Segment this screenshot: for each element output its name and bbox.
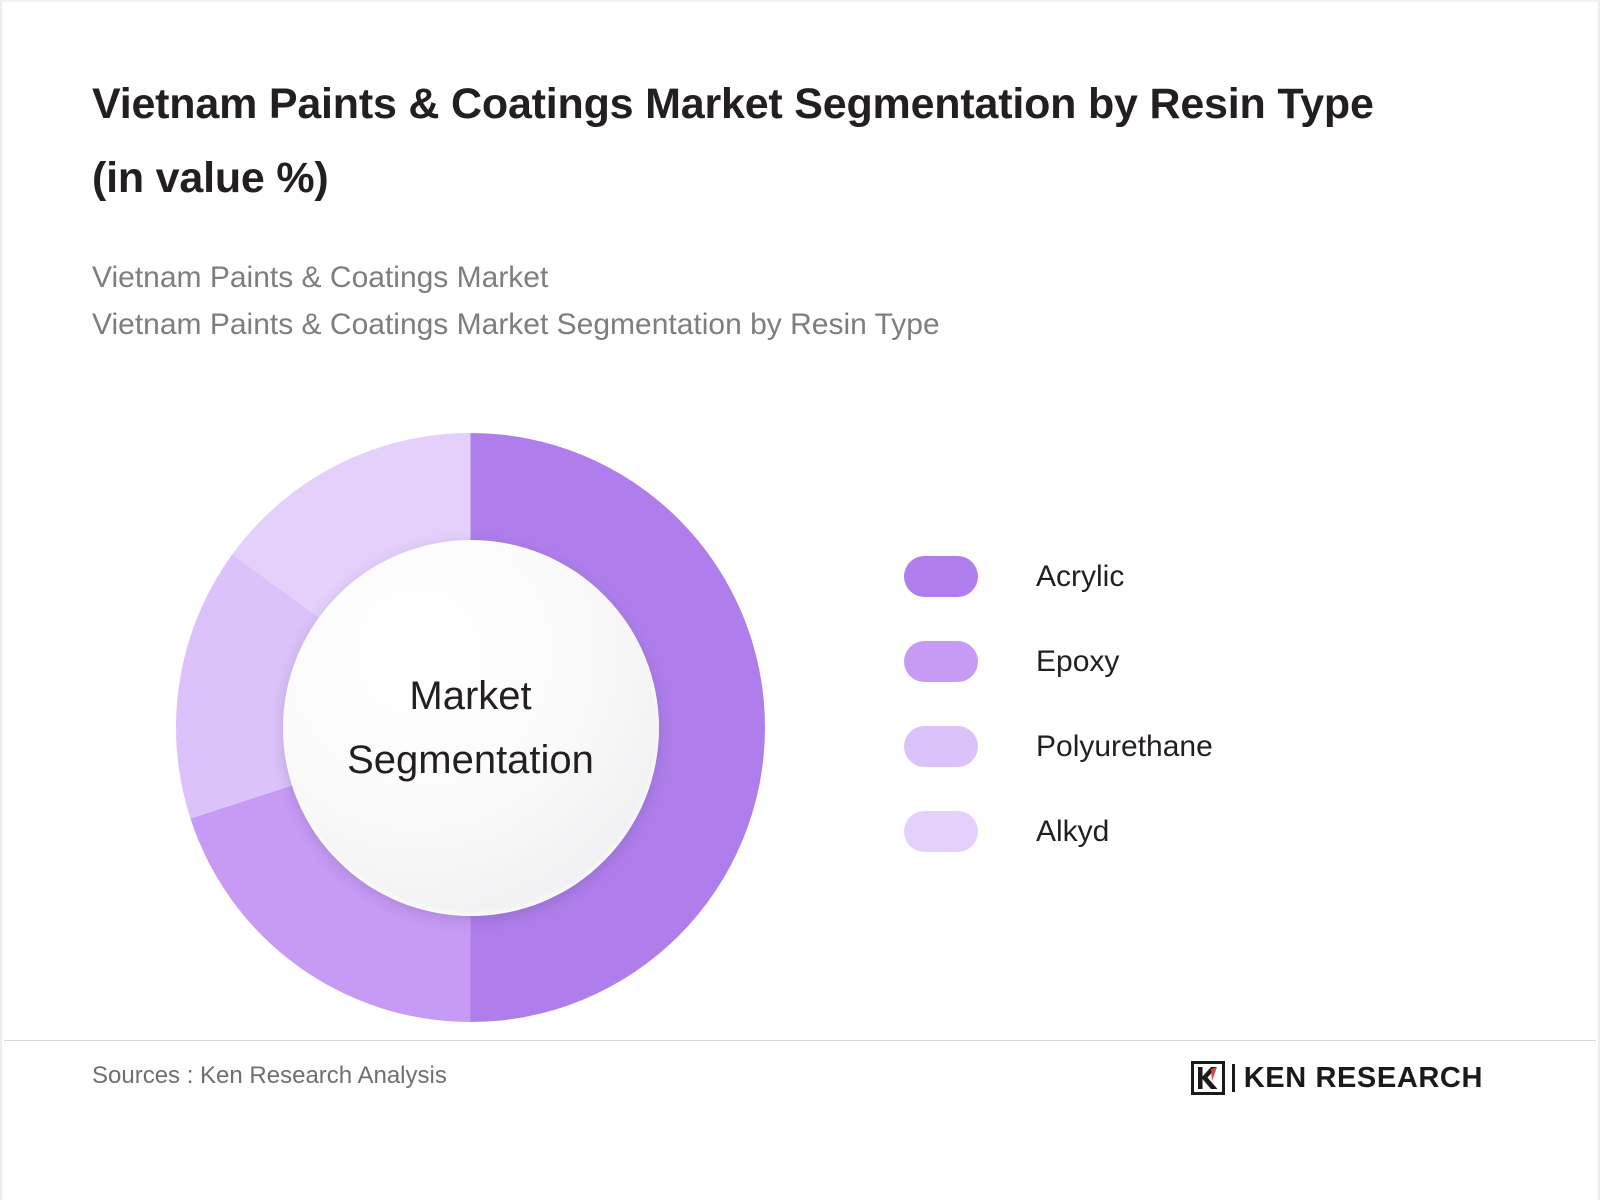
- legend-swatch-epoxy: [904, 641, 978, 682]
- footer-divider: [4, 1040, 1596, 1041]
- legend-label: Epoxy: [1036, 645, 1119, 679]
- ken-k-mark-svg: [1191, 1061, 1225, 1095]
- donut-center-disc: Market Segmentation: [283, 540, 659, 916]
- legend-item-polyurethane[interactable]: Polyurethane: [904, 704, 1424, 789]
- chart-area: Market Segmentation AcrylicEpoxyPolyuret…: [2, 362, 1600, 1032]
- subtitle-block: Vietnam Paints & Coatings Market Vietnam…: [92, 255, 1392, 348]
- subtitle-line-2: Vietnam Paints & Coatings Market Segment…: [92, 302, 1392, 349]
- ken-research-logo: KEN RESEARCH: [1191, 1058, 1483, 1098]
- legend-item-acrylic[interactable]: Acrylic: [904, 534, 1424, 619]
- legend-item-epoxy[interactable]: Epoxy: [904, 619, 1424, 704]
- legend-item-alkyd[interactable]: Alkyd: [904, 789, 1424, 874]
- legend-swatch-polyurethane: [904, 726, 978, 767]
- legend-label: Polyurethane: [1036, 730, 1213, 764]
- legend-label: Acrylic: [1036, 560, 1124, 594]
- subtitle-line-1: Vietnam Paints & Coatings Market: [92, 255, 1392, 302]
- ken-k-mark-icon: [1191, 1061, 1225, 1095]
- slide-canvas: Vietnam Paints & Coatings Market Segment…: [0, 0, 1600, 1200]
- logo-divider: [1232, 1064, 1235, 1092]
- chart-legend: AcrylicEpoxyPolyurethaneAlkyd: [904, 534, 1424, 874]
- logo-wordmark: KEN RESEARCH: [1244, 1062, 1483, 1095]
- legend-label: Alkyd: [1036, 815, 1109, 849]
- sources-text: Sources : Ken Research Analysis: [92, 1062, 447, 1090]
- legend-swatch-acrylic: [904, 556, 978, 597]
- donut-chart: Market Segmentation: [176, 433, 765, 1022]
- donut-center-label: Market Segmentation: [347, 664, 594, 792]
- legend-swatch-alkyd: [904, 811, 978, 852]
- page-title: Vietnam Paints & Coatings Market Segment…: [92, 68, 1382, 216]
